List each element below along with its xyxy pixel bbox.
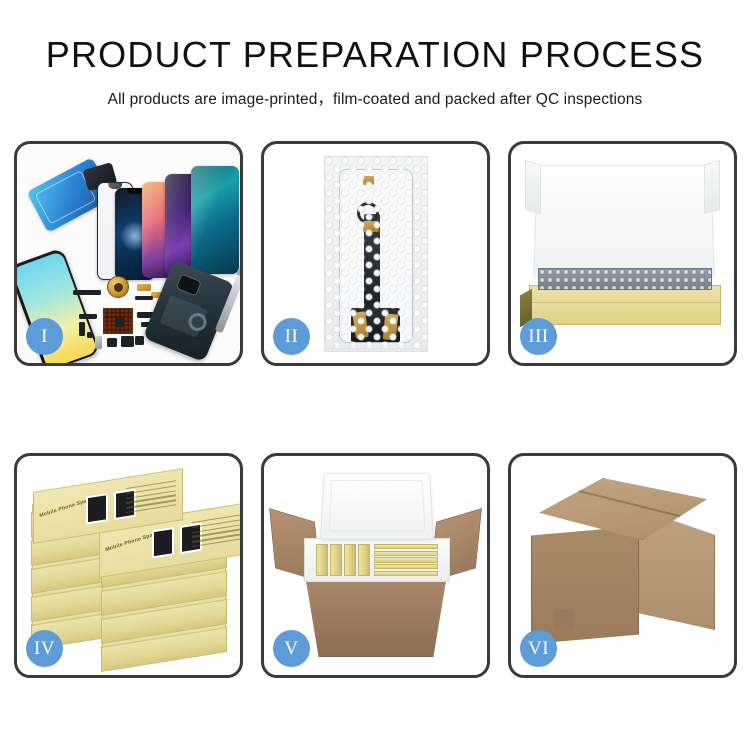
box-label-spec-lines <box>192 514 242 552</box>
step-badge-3: III <box>520 318 557 355</box>
step-badge-4: IV <box>26 630 63 667</box>
step-badge-6: VI <box>520 630 557 667</box>
shipping-carton-icon <box>306 581 446 657</box>
bubble-wrapped-contents <box>538 268 712 290</box>
glass-sheen <box>191 166 239 274</box>
yellow-box <box>374 564 438 569</box>
yellow-box <box>374 551 438 556</box>
screw-icon <box>87 332 93 338</box>
tape-patch <box>554 609 574 629</box>
sealed-carton-icon <box>531 478 715 648</box>
yellow-box <box>374 544 438 549</box>
step-badge-1: I <box>26 318 63 355</box>
lid-flap-left <box>525 160 541 215</box>
flex-cable-icon <box>79 322 85 336</box>
box-stack: Mobile Phone Spare Parts Mobile Phone Sp… <box>27 480 235 658</box>
step-panel-5: V <box>261 453 490 678</box>
vibrator-motor-icon <box>107 338 117 347</box>
notch-icon <box>127 188 143 194</box>
bubble-texture <box>325 157 427 351</box>
carton-front-face <box>531 526 639 644</box>
gold-connector-icon <box>137 284 151 291</box>
foam-lid-icon <box>320 473 434 540</box>
page-subtitle: All products are image-printed，film-coat… <box>0 87 750 109</box>
small-part-icon <box>115 318 124 327</box>
yellow-box <box>374 557 438 562</box>
kraft-box-front-face <box>530 302 720 324</box>
phone-screen-teal-icon <box>191 166 239 274</box>
step-panel-4: Mobile Phone Spare Parts Mobile Phone Sp… <box>14 453 243 678</box>
yellow-box-stack <box>374 544 438 576</box>
box-label-phone-image <box>152 527 174 558</box>
flex-cable-icon <box>79 314 97 319</box>
step-badge-2: II <box>273 318 310 355</box>
yellow-box <box>344 544 356 576</box>
kraft-box-base-icon <box>529 285 721 325</box>
small-part-icon <box>135 336 144 345</box>
yellow-box <box>316 544 328 576</box>
white-box-lid-icon <box>533 165 714 276</box>
lcd-inner-frame <box>35 170 97 224</box>
camera-cutout-icon <box>176 273 202 296</box>
bubble-wrap-pouch-icon <box>324 156 428 352</box>
page-root: PRODUCT PREPARATION PROCESS All products… <box>0 0 750 750</box>
header: PRODUCT PREPARATION PROCESS All products… <box>0 36 750 109</box>
yellow-boxes-inside <box>316 544 438 576</box>
yellow-box <box>330 544 342 576</box>
step-panel-1: I <box>14 141 243 366</box>
lid-flap-right <box>704 160 720 215</box>
step-badge-5: V <box>273 630 310 667</box>
yellow-box <box>358 544 370 576</box>
yellow-box <box>374 571 438 576</box>
carton-seam <box>560 485 702 522</box>
tape-patch <box>554 669 574 678</box>
speaker-module-icon <box>107 276 129 298</box>
sim-tray-icon <box>95 336 102 349</box>
camera-module-icon <box>121 336 134 347</box>
step-panel-3: III <box>508 141 737 366</box>
page-title: PRODUCT PREPARATION PROCESS <box>0 36 750 74</box>
earpiece-mesh-icon <box>73 290 101 295</box>
step-panel-6: VI <box>508 453 737 678</box>
box-label-phone-image <box>86 493 108 524</box>
flex-cable-icon <box>135 296 153 300</box>
box-label-spec-lines <box>126 480 176 518</box>
step-panel-2: II <box>261 141 490 366</box>
process-steps-grid: I II <box>14 141 736 681</box>
